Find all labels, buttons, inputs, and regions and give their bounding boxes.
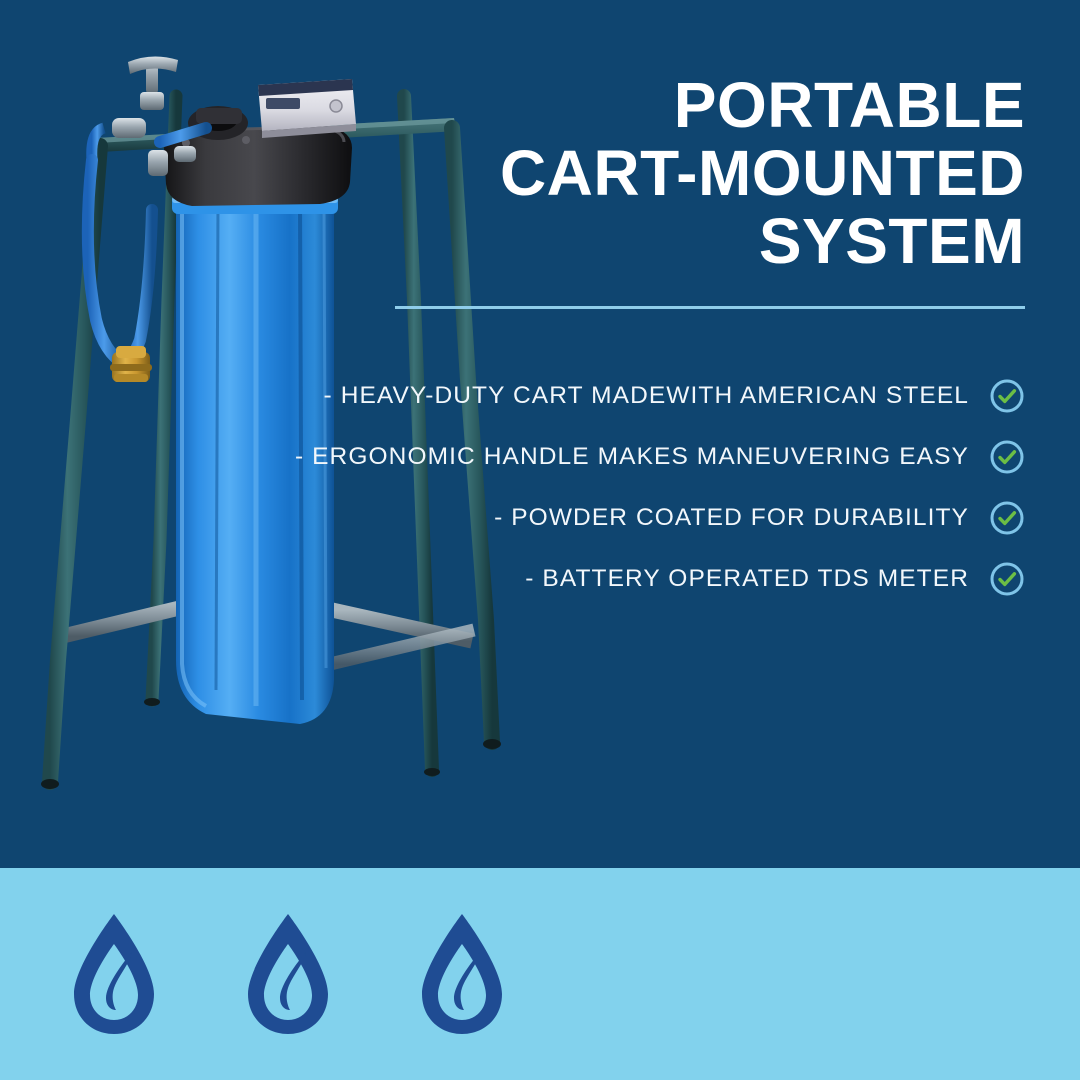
feature-label: - POWDER COATED FOR DURABILITY (494, 504, 969, 532)
page-title: PORTABLE CART-MOUNTED SYSTEM (325, 72, 1025, 275)
water-drop-logo (408, 908, 516, 1038)
check-circle-icon (989, 500, 1025, 536)
check-circle-icon (989, 561, 1025, 597)
feature-label: - BATTERY OPERATED TDS METER (525, 565, 969, 593)
feature-list: - HEAVY-DUTY CART MADEWITH AMERICAN STEE… (305, 378, 1025, 597)
feature-item: - ERGONOMIC HANDLE MAKES MANEUVERING EAS… (305, 439, 1025, 475)
headline-line-3: SYSTEM (325, 208, 1025, 276)
logo-row (60, 908, 516, 1038)
feature-item: - HEAVY-DUTY CART MADEWITH AMERICAN STEE… (305, 378, 1025, 414)
promo-graphic: PORTABLE CART-MOUNTED SYSTEM - HEAVY-DUT… (0, 0, 1080, 1080)
feature-label: - ERGONOMIC HANDLE MAKES MANEUVERING EAS… (295, 443, 969, 471)
feature-label: - HEAVY-DUTY CART MADEWITH AMERICAN STEE… (324, 382, 969, 410)
headline-line-1: PORTABLE (325, 72, 1025, 140)
headline-line-2: CART-MOUNTED (325, 140, 1025, 208)
water-drop-logo (60, 908, 168, 1038)
check-circle-icon (989, 378, 1025, 414)
feature-item: - BATTERY OPERATED TDS METER (305, 561, 1025, 597)
title-divider (395, 306, 1025, 309)
feature-item: - POWDER COATED FOR DURABILITY (305, 500, 1025, 536)
water-drop-logo (234, 908, 342, 1038)
brass-fitting (110, 346, 152, 382)
check-circle-icon (989, 439, 1025, 475)
